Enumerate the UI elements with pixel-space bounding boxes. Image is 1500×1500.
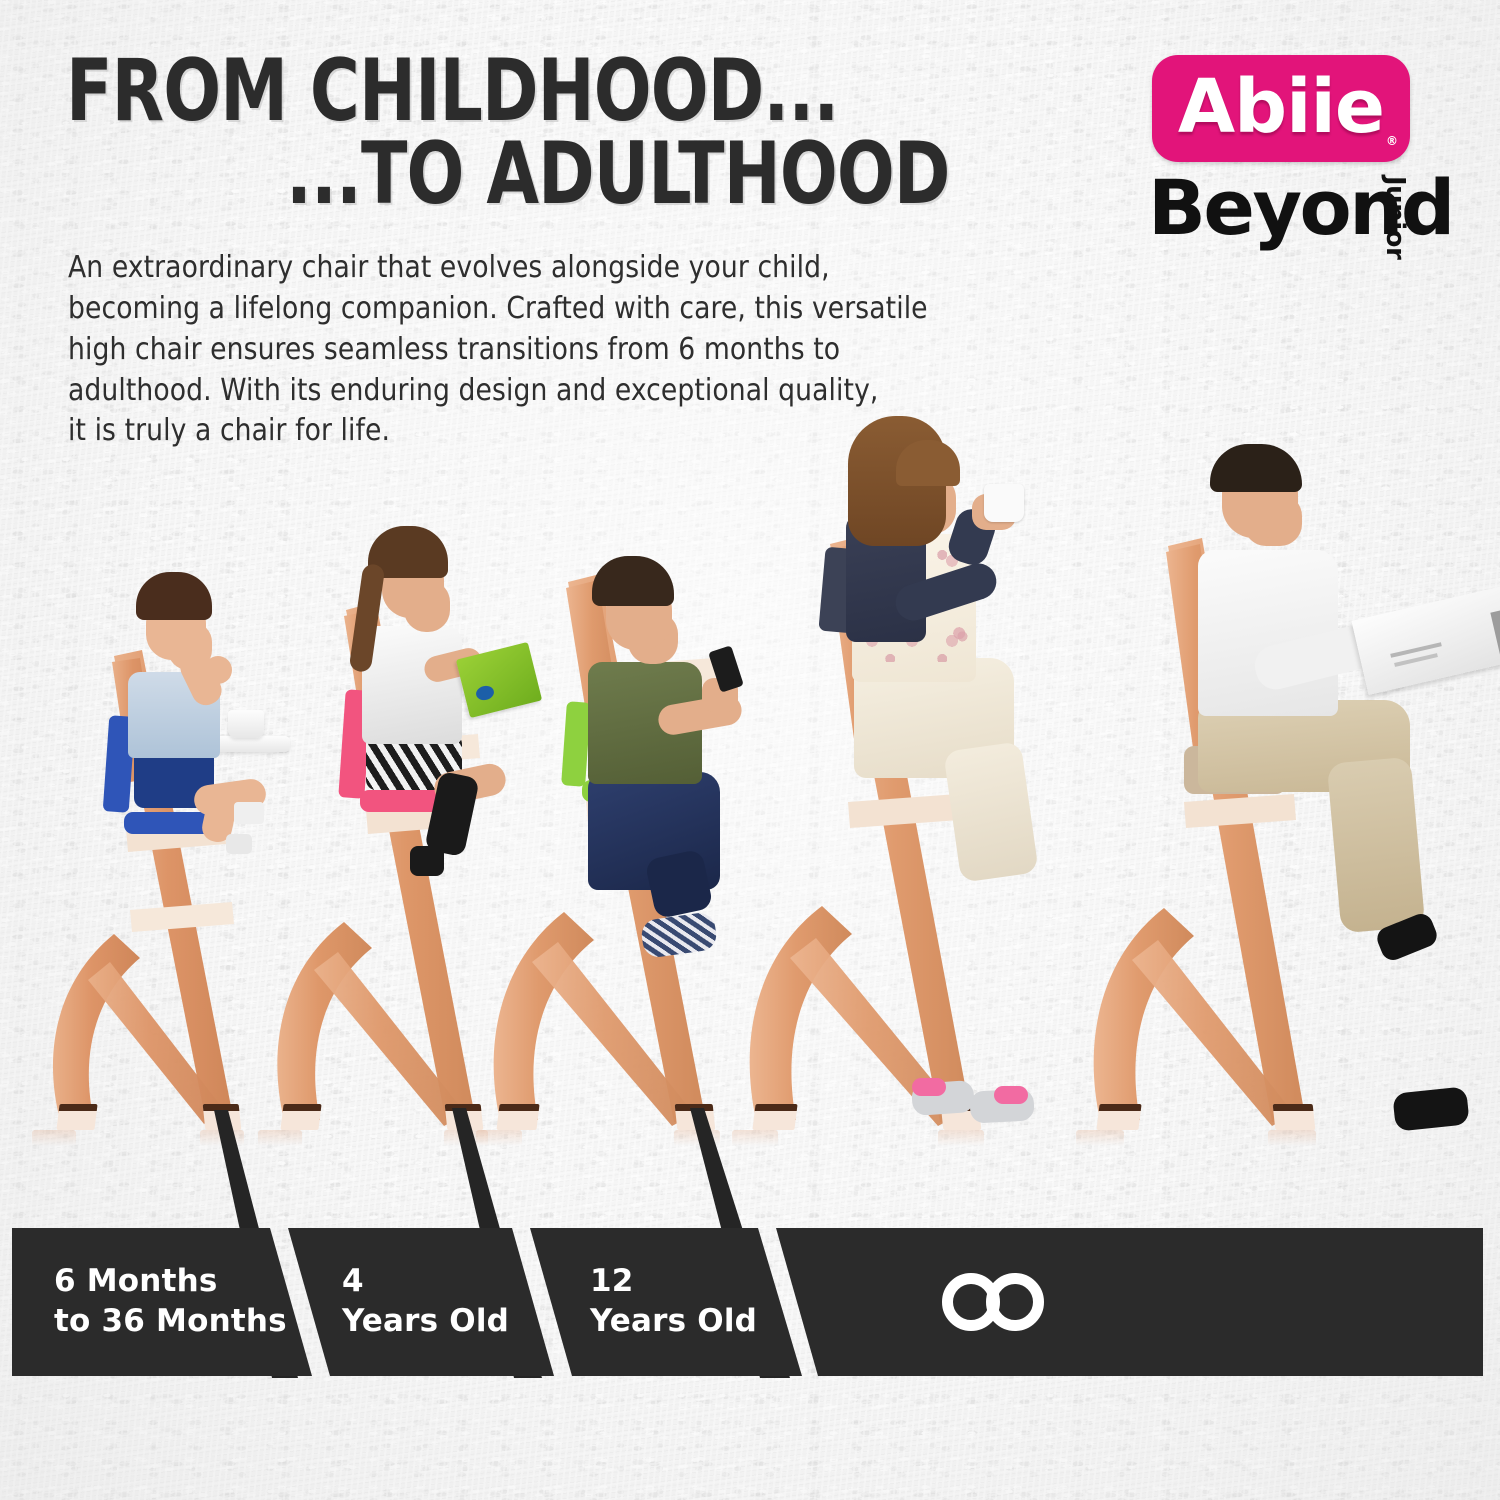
chair-figure-man — [1058, 430, 1478, 1130]
age-stage-banner: 6 Months to 36 Months 4 Years Old 12 Yea… — [12, 1228, 1483, 1376]
chair-figure-toddler — [18, 510, 278, 1130]
brand-logo: Abiie ® Beyond Junior — [1152, 55, 1452, 262]
banner-segment-2: 4 Years Old — [342, 1228, 532, 1376]
product-lockup: Beyond Junior — [1152, 170, 1452, 262]
page-title: FROM CHILDHOOD... ...TO ADULTHOOD — [66, 52, 1046, 214]
body-copy-line-5: it is truly a chair for life. — [68, 411, 1048, 452]
banner-segment-3: 12 Years Old — [590, 1228, 790, 1376]
segment-3-line-1: 12 — [590, 1262, 790, 1302]
segment-3-line-2: Years Old — [590, 1302, 790, 1342]
mug-icon — [984, 484, 1024, 522]
banner-segment-4 — [942, 1228, 1162, 1376]
body-copy-line-1: An extraordinary chair that evolves alon… — [68, 248, 1048, 289]
chair-progression-scene — [0, 470, 1500, 1130]
registered-trademark-icon: ® — [1386, 134, 1398, 148]
abiie-wordmark: Abiie — [1178, 70, 1384, 144]
body-copy-line-2: becoming a lifelong companion. Crafted w… — [68, 289, 1048, 330]
headline-line-2: ...TO ADULTHOOD — [66, 135, 928, 214]
banner-segment-1: 6 Months to 36 Months — [54, 1228, 284, 1376]
segment-2-line-1: 4 — [342, 1262, 532, 1302]
headline-line-1: FROM CHILDHOOD... — [66, 52, 928, 131]
body-copy-line-4: adulthood. With its enduring design and … — [68, 371, 1048, 412]
segment-2-line-2: Years Old — [342, 1302, 532, 1342]
junior-wordmark: Junior — [1380, 176, 1410, 259]
abiie-logo-badge: Abiie ® — [1152, 55, 1410, 162]
infographic-canvas: FROM CHILDHOOD... ...TO ADULTHOOD An ext… — [0, 0, 1500, 1500]
body-copy: An extraordinary chair that evolves alon… — [68, 248, 1048, 452]
segment-1-line-2: to 36 Months — [54, 1302, 284, 1342]
segment-1-line-1: 6 Months — [54, 1262, 284, 1302]
infinity-icon — [942, 1273, 1070, 1331]
body-copy-line-3: high chair ensures seamless transitions … — [68, 330, 1048, 371]
chair-figure-woman — [716, 430, 1076, 1130]
